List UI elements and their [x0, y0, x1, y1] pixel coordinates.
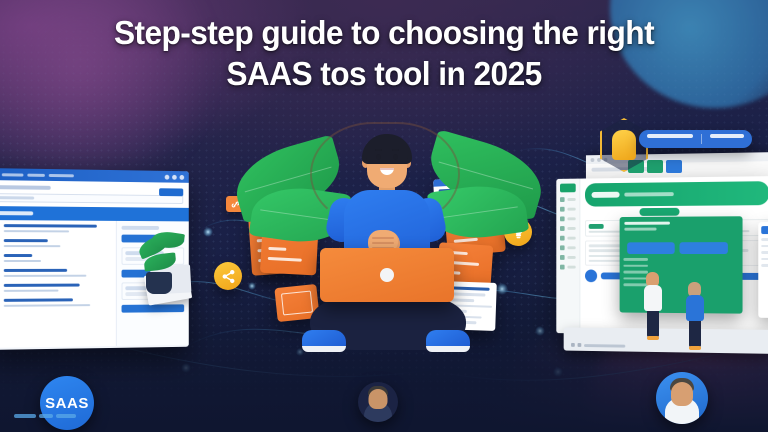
watermark-text [14, 414, 76, 418]
account-avatar-icon[interactable] [180, 175, 185, 180]
right-person-avatar[interactable] [656, 372, 708, 424]
pill-divider [701, 134, 702, 144]
left-search-input[interactable] [0, 193, 183, 204]
hero-graphic: Step-step guide to choosing the right SA… [0, 0, 768, 432]
pill-button-a[interactable] [647, 134, 693, 138]
sidebar-item[interactable] [560, 245, 576, 250]
help-icon[interactable] [172, 174, 177, 179]
sidebar-item[interactable] [560, 197, 576, 202]
list-item[interactable] [0, 283, 112, 294]
right-hero-banner [585, 181, 768, 206]
eyebrow [375, 149, 382, 151]
pill-button-b[interactable] [710, 134, 744, 138]
mini-tile[interactable] [647, 160, 663, 173]
center-person-avatar[interactable] [358, 382, 398, 422]
mini-tile[interactable] [666, 160, 682, 173]
title-line-1: Step-step guide to choosing the right [42, 12, 726, 53]
right-dashboard-logo-icon [560, 183, 576, 192]
sidebar-item[interactable] [560, 207, 576, 212]
green-presentation-panel [620, 216, 743, 313]
presenter-white-coat [646, 272, 662, 337]
right-dashboard-sidebar [556, 179, 580, 334]
laptop-logo-icon [380, 268, 394, 282]
right-hero-cta[interactable] [639, 208, 679, 216]
sidebar-item[interactable] [560, 255, 576, 260]
presenter-blue-shirt [688, 282, 704, 347]
list-item[interactable] [0, 298, 112, 309]
left-nav-item[interactable] [49, 173, 74, 176]
bell-icon[interactable] [165, 174, 170, 179]
panel-button[interactable] [680, 242, 728, 254]
list-item[interactable] [0, 269, 112, 279]
right-detail-panel [758, 222, 768, 318]
pill-button-group[interactable] [639, 130, 752, 148]
desk-surface [564, 327, 768, 354]
shoe [302, 330, 346, 352]
saas-badge-label: SAAS [45, 395, 89, 412]
list-item[interactable] [0, 254, 112, 264]
list-item[interactable] [0, 224, 112, 235]
panel-button[interactable] [627, 242, 675, 254]
page-title: Step-step guide to choosing the right SA… [0, 12, 768, 94]
saas-badge-avatar[interactable]: SAAS [40, 376, 94, 430]
eye [376, 154, 381, 160]
sidebar-action-button[interactable] [122, 304, 184, 312]
left-primary-button[interactable] [159, 188, 183, 196]
sidebar-item[interactable] [560, 216, 576, 221]
eyebrow [392, 149, 399, 151]
share-network-chip[interactable] [214, 262, 242, 290]
left-nav-item[interactable] [27, 173, 45, 176]
center-illustration [286, 118, 486, 380]
shoe [426, 330, 470, 352]
left-section-band [0, 206, 189, 221]
title-line-2: SAAS tos tool in 2025 [42, 53, 726, 94]
sidebar-item[interactable] [560, 226, 576, 231]
left-dashboard-heading [0, 185, 51, 190]
share-icon [221, 269, 236, 284]
left-result-list [0, 220, 116, 348]
orange-laptop [320, 248, 454, 302]
list-item[interactable] [0, 239, 112, 249]
fab-button[interactable] [585, 270, 597, 283]
sidebar-item[interactable] [560, 236, 576, 241]
left-nav-item[interactable] [2, 173, 24, 176]
eye [393, 154, 398, 160]
sidebar-item[interactable] [560, 265, 576, 270]
